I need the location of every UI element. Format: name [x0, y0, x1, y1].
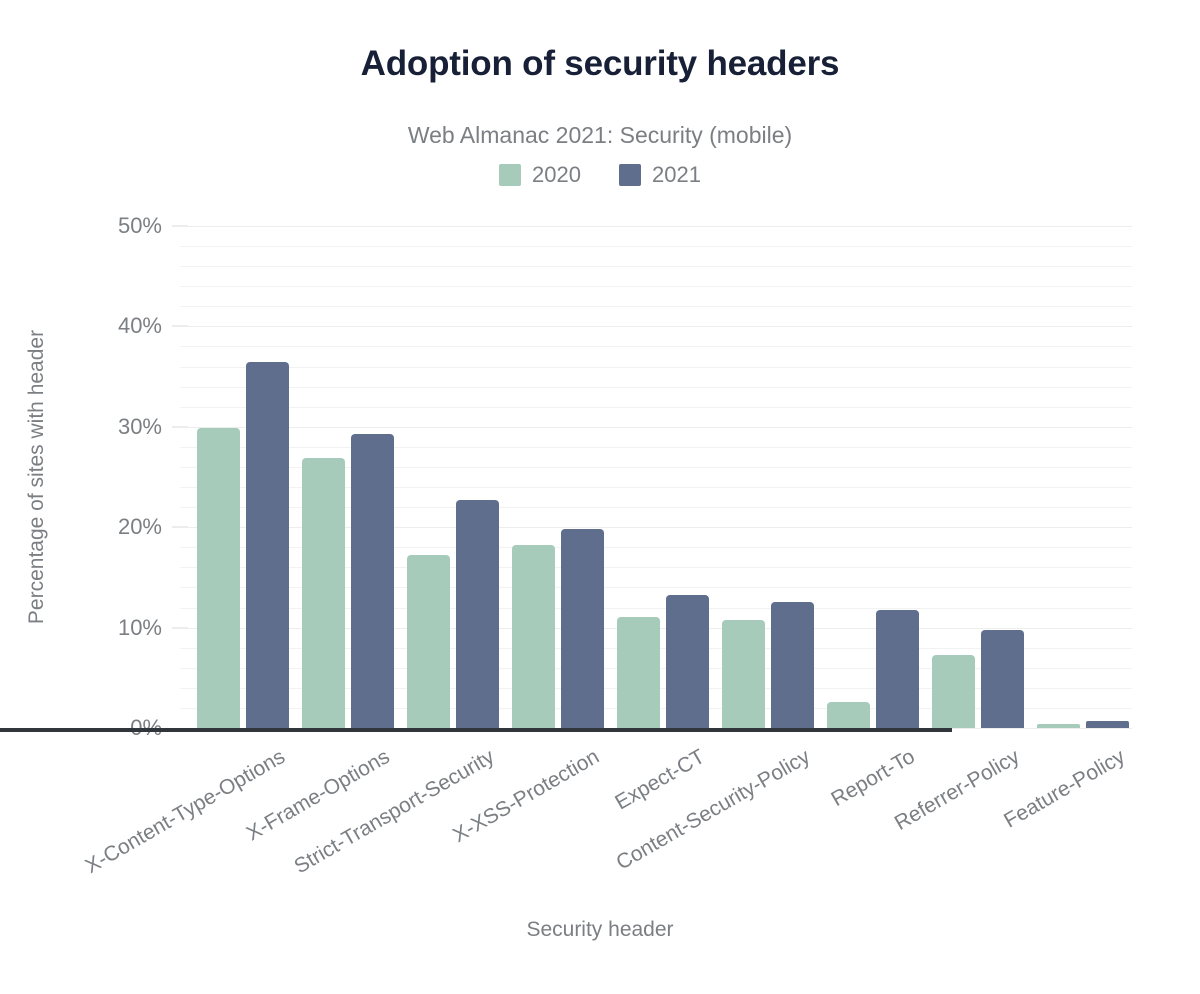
bar-2020[interactable] — [1037, 724, 1080, 728]
bar-2021[interactable] — [456, 500, 499, 728]
bar-2021[interactable] — [876, 610, 919, 728]
bar-2021[interactable] — [561, 529, 604, 728]
bar-group — [722, 226, 814, 728]
bar-2020[interactable] — [932, 655, 975, 728]
x-axis-label: X-XSS-Protection — [449, 745, 604, 848]
bar-2020[interactable] — [617, 617, 660, 728]
y-axis-title: Percentage of sites with header — [25, 330, 49, 624]
chart-legend: 20202021 — [0, 162, 1200, 188]
x-axis-label: Strict-Transport-Security — [290, 745, 498, 879]
legend-item-2021[interactable]: 2021 — [619, 162, 701, 188]
legend-swatch-2020 — [499, 164, 521, 186]
x-axis-title: Security header — [0, 918, 1200, 942]
bar-group — [932, 226, 1024, 728]
x-axis-label: Report-To — [827, 745, 919, 812]
bar-2020[interactable] — [512, 545, 555, 728]
plot-area — [180, 226, 1132, 728]
chart-subtitle: Web Almanac 2021: Security (mobile) — [0, 122, 1200, 149]
x-axis-label: Feature-Policy — [1000, 745, 1129, 833]
bar-2020[interactable] — [827, 702, 870, 728]
legend-swatch-2021 — [619, 164, 641, 186]
x-axis-label: X-Frame-Options — [243, 745, 394, 846]
bar-2021[interactable] — [246, 362, 289, 728]
chart-title: Adoption of security headers — [0, 44, 1200, 84]
y-axis-tick-label: 40% — [88, 313, 162, 339]
bar-group — [512, 226, 604, 728]
bar-2021[interactable] — [666, 595, 709, 728]
bar-2021[interactable] — [771, 602, 814, 729]
chart-figure: Adoption of security headers Web Almanac… — [0, 0, 1200, 994]
x-axis-label: Content-Security-Policy — [612, 745, 814, 875]
bar-group — [407, 226, 499, 728]
x-axis-line — [0, 728, 952, 732]
bar-2021[interactable] — [981, 630, 1024, 728]
x-axis-label: X-Content-Type-Options — [81, 745, 289, 879]
bar-2020[interactable] — [197, 428, 240, 728]
x-axis-label: Referrer-Policy — [891, 745, 1024, 836]
bar-2020[interactable] — [407, 555, 450, 728]
bar-2021[interactable] — [351, 434, 394, 728]
y-axis-tick-label: 30% — [88, 414, 162, 440]
x-axis-label: Expect-CT — [611, 745, 709, 815]
legend-item-2020[interactable]: 2020 — [499, 162, 581, 188]
y-axis-tick-label: 10% — [88, 615, 162, 641]
bar-group — [617, 226, 709, 728]
bar-group — [302, 226, 394, 728]
bar-group — [197, 226, 289, 728]
bar-2020[interactable] — [722, 620, 765, 728]
bar-group — [1037, 226, 1129, 728]
y-axis-tick-label: 20% — [88, 514, 162, 540]
y-axis-tick-label: 50% — [88, 213, 162, 239]
legend-label: 2020 — [532, 162, 581, 188]
bar-group — [827, 226, 919, 728]
bar-2021[interactable] — [1086, 721, 1129, 728]
legend-label: 2021 — [652, 162, 701, 188]
bar-2020[interactable] — [302, 458, 345, 728]
